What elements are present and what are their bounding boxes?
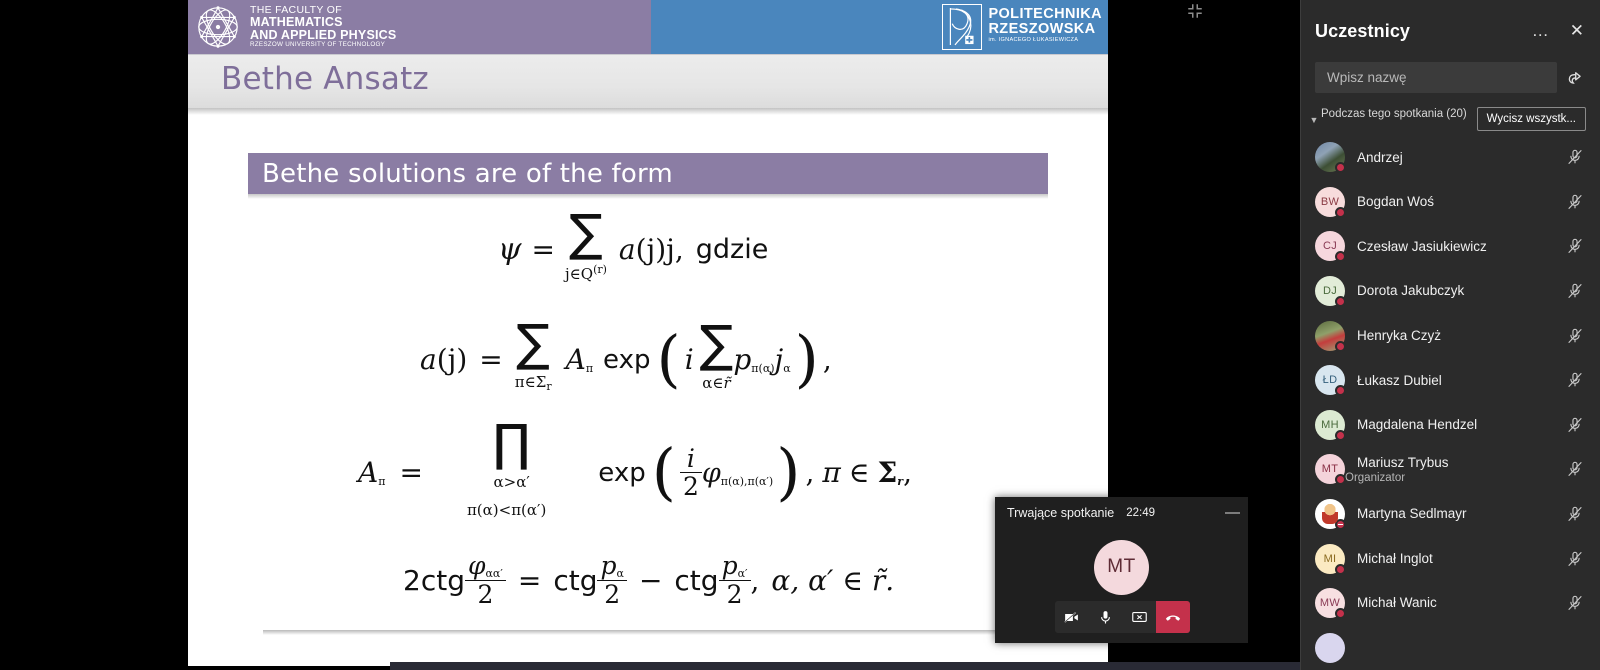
app-root: THE FACULTY OF MATHEMATICS AND APPLIED P…: [0, 0, 1600, 670]
avatar: MW: [1315, 588, 1345, 618]
mic-muted-icon[interactable]: [1566, 594, 1584, 612]
symbol-equals-3: =: [399, 456, 422, 489]
faculty-line-4: RZESZOW UNIVERSITY OF TECHNOLOGY: [250, 42, 396, 48]
paren-open-2: (: [652, 453, 676, 491]
mic-muted-icon[interactable]: [1566, 371, 1584, 389]
coefficient-2ctg: 2ctg: [403, 564, 465, 597]
participants-panel: Uczestnicy … ✕ ▼ Podczas tego spotkania …: [1300, 0, 1600, 670]
symbol-a-2: a: [420, 343, 437, 376]
status-badge: [1335, 430, 1346, 441]
slide-block: Bethe solutions are of the form: [248, 153, 1048, 199]
symbol-phi-2: φ: [468, 551, 486, 580]
symbol-j-1: j: [647, 233, 656, 266]
ctg-word-1: ctg: [421, 564, 465, 597]
paren-close-1: ): [795, 340, 819, 378]
fraction-den-2b: 2: [465, 581, 506, 608]
avatar: MI: [1315, 544, 1345, 574]
avatar: MT: [1315, 454, 1345, 484]
list-item[interactable]: MTMariusz TrybusOrganizator: [1301, 447, 1600, 492]
meeting-controls-bar: [1055, 601, 1190, 633]
app-toolbar-strip[interactable]: [390, 662, 1300, 670]
stop-sharing-button[interactable]: [1123, 601, 1157, 633]
symbol-j-3: j: [448, 343, 457, 376]
university-logo: POLITECHNIKA RZESZOWSKA im. IGNACEGO ŁUK…: [942, 4, 1102, 50]
close-icon[interactable]: ✕: [1570, 21, 1584, 41]
participants-panel-header: Uczestnicy … ✕: [1301, 0, 1600, 62]
participant-name-block: Łukasz Dubiel: [1345, 373, 1442, 389]
sum-glyph-1: ∑: [569, 204, 603, 262]
equation-psi-sum: ψ = ∑ j∈Q(r) a(j)j, gdzie: [498, 216, 768, 283]
comma-4: ,: [751, 564, 760, 597]
participants-section-label: Podczas tego spotkania (20): [1321, 107, 1467, 121]
politechnika-mark-icon: [942, 4, 982, 50]
mute-all-button[interactable]: Wycisz wszystk...: [1477, 107, 1586, 131]
slide-banner: THE FACULTY OF MATHEMATICS AND APPLIED P…: [188, 0, 1108, 54]
participant-name: Bogdan Woś: [1357, 194, 1434, 210]
floating-meeting-window[interactable]: Trwające spotkanie 22:49 — MT: [995, 497, 1248, 643]
participant-name: Dorota Jakubczyk: [1357, 283, 1464, 299]
symbol-minus: −: [639, 564, 662, 597]
university-line-1: POLITECHNIKA: [988, 7, 1102, 22]
symbol-phi-1: φ: [702, 458, 721, 489]
comma-2: ,: [805, 456, 814, 489]
exit-fullscreen-icon[interactable]: [1185, 2, 1205, 20]
symbol-pi-2: π: [822, 456, 840, 489]
word-gdzie: gdzie: [696, 234, 769, 265]
participant-name-block: Bogdan Woś: [1345, 194, 1434, 210]
mic-muted-icon[interactable]: [1566, 148, 1584, 166]
symbol-A-2: A: [358, 456, 378, 489]
participant-name-block: Henryka Czyż: [1345, 328, 1441, 344]
participant-name: Martyna Sedlmayr: [1357, 506, 1467, 522]
product-limit-2: π(α)<π(α′): [467, 501, 546, 519]
participant-name: Henryka Czyż: [1357, 328, 1441, 344]
floating-meeting-timer: 22:49: [1126, 507, 1155, 519]
mic-muted-icon[interactable]: [1566, 237, 1584, 255]
fraction-num-i: i: [680, 446, 702, 474]
fraction-pa-over-2: pα 2: [597, 553, 626, 608]
university-line-2: RZESZOWSKA: [988, 22, 1102, 37]
symbol-psi: ψ: [498, 232, 522, 267]
symbol-p-2: p: [600, 551, 616, 580]
status-badge: [1335, 207, 1346, 218]
more-options-icon[interactable]: …: [1532, 26, 1550, 36]
comma-3: ,: [903, 456, 912, 489]
phase-term: φπ(α),π(α′): [702, 456, 773, 489]
a-of-j-term: a(j)j,: [619, 233, 684, 266]
faculty-line-2: MATHEMATICS: [250, 16, 396, 29]
mic-muted-icon[interactable]: [1566, 327, 1584, 345]
status-badge: [1335, 608, 1346, 619]
avatar: DJ: [1315, 276, 1345, 306]
university-line-3: im. IGNACEGO ŁUKASIEWICZA: [988, 38, 1102, 44]
participant-name-block: Michał Inglot: [1345, 551, 1433, 567]
ctg-word-3: ctg: [674, 564, 718, 597]
sum-limit-3-r: r̃: [724, 374, 731, 392]
equation-ctg-relation: 2ctg φαα′ 2 = ctg pα 2 − ctg: [403, 553, 894, 608]
avatar: BW: [1315, 187, 1345, 217]
fraction-den-2d: 2: [719, 581, 751, 608]
list-item[interactable]: MIMichał Inglot: [1301, 536, 1600, 581]
banner-right: POLITECHNIKA RZESZOWSKA im. IGNACEGO ŁUK…: [651, 0, 1108, 54]
chevron-down-icon[interactable]: ▼: [1307, 107, 1321, 125]
mic-muted-icon[interactable]: [1566, 193, 1584, 211]
camera-off-button[interactable]: [1055, 601, 1089, 633]
avatar: [1315, 321, 1345, 351]
avatar: MT: [1094, 540, 1149, 595]
participant-name: Magdalena Hendzel: [1357, 417, 1477, 433]
faculty-wordmark: THE FACULTY OF MATHEMATICS AND APPLIED P…: [250, 5, 396, 49]
frame-title-shadow: [188, 108, 1108, 115]
politechnika-glyph-icon: [943, 5, 980, 48]
symbol-equals-4: =: [518, 564, 541, 597]
search-input[interactable]: [1315, 62, 1557, 93]
mic-muted-icon[interactable]: [1566, 282, 1584, 300]
sum-glyph-2: ∑: [516, 314, 550, 372]
participant-name: Andrzej: [1357, 150, 1403, 166]
fraction-pap-over-2: pα′ 2: [719, 553, 751, 608]
mic-muted-icon[interactable]: [1566, 550, 1584, 568]
symbol-p-3: p: [722, 551, 738, 580]
participant-role: Organizator: [1345, 472, 1449, 484]
list-item[interactable]: Andrzej: [1301, 135, 1600, 180]
symbol-pi-sub-2: π: [378, 475, 385, 488]
list-item[interactable]: BWBogdan Woś: [1301, 180, 1600, 225]
sum-limit-3-text: α∈: [702, 374, 723, 392]
participants-list[interactable]: AndrzejBWBogdan WośCJCzesław Jasiukiewic…: [1301, 135, 1600, 670]
avatar: MH: [1315, 410, 1345, 440]
microphone-icon: [1097, 609, 1114, 626]
sum-limit-2-text: π∈Σ: [515, 373, 547, 391]
slide-frame-title: Bethe Ansatz: [221, 61, 429, 97]
share-stop-icon: [1131, 609, 1148, 626]
faculty-atom-logo-icon: [194, 3, 242, 51]
fraction-num-pa: pα: [597, 553, 626, 581]
faculty-line-3: AND APPLIED PHYSICS: [250, 29, 396, 42]
avatar: [1315, 499, 1345, 529]
participant-name-block: Magdalena Hendzel: [1345, 417, 1477, 433]
symbol-p-sub-2: α: [617, 567, 624, 580]
list-item[interactable]: MWMichał Wanic: [1301, 581, 1600, 626]
mic-muted-icon[interactable]: [1566, 460, 1584, 478]
participant-name-block: Martyna Sedlmayr: [1345, 506, 1467, 522]
mic-muted-icon[interactable]: [1566, 416, 1584, 434]
camera-off-icon: [1063, 609, 1080, 626]
symbol-a-1: a: [619, 233, 636, 266]
status-badge: [1335, 341, 1346, 352]
participant-name-block: Andrzej: [1345, 150, 1403, 166]
sum-limit-1-sup: (r): [593, 263, 607, 276]
floating-meeting-body: MT: [995, 529, 1248, 605]
participant-name: Michał Wanic: [1357, 595, 1437, 611]
symbol-A-1: A: [566, 343, 586, 376]
sum-limit-2-sub: r: [546, 380, 551, 393]
paren-close-2: ): [776, 453, 800, 491]
symbol-p-sub-3: α′: [738, 567, 748, 580]
avatar: ŁD: [1315, 365, 1345, 395]
slide-bottom-rule: [263, 630, 1053, 635]
symbol-Sigma-r: Σr: [877, 456, 903, 489]
status-badge: [1335, 519, 1346, 530]
amplitude-A-pi: Aπ: [566, 343, 593, 376]
symbol-phi-sub-2: αα′: [486, 567, 503, 580]
symbol-in-1: ∈: [849, 456, 870, 489]
comma-1: ,: [823, 343, 832, 376]
fraction-den-2c: 2: [597, 581, 626, 608]
hang-up-button[interactable]: [1156, 601, 1190, 633]
participant-name-block: Mariusz TrybusOrganizator: [1345, 455, 1449, 484]
alpha-membership: α, α′ ∈ r̃.: [771, 564, 894, 597]
fraction-num-phi: φαα′: [465, 553, 506, 581]
symbol-j-sub-1: α: [783, 362, 790, 375]
momentum-term-1: pπ(α)jα: [733, 343, 790, 376]
status-badge: [1335, 564, 1346, 575]
sum-operator-3: ∑ α∈r̃: [700, 327, 734, 392]
participant-name: Łukasz Dubiel: [1357, 373, 1442, 389]
list-item[interactable]: ŁDŁukasz Dubiel: [1301, 358, 1600, 403]
avatar: CJ: [1315, 231, 1345, 261]
status-badge: [1335, 474, 1346, 485]
page-title: Uczestnicy: [1315, 21, 1410, 42]
list-item[interactable]: [1301, 626, 1600, 670]
sum-limit-3: α∈r̃: [700, 374, 734, 392]
sum-glyph-3: ∑: [700, 315, 734, 373]
mic-muted-icon[interactable]: [1566, 505, 1584, 523]
exp-word-1: exp: [603, 345, 650, 375]
block-title: Bethe solutions are of the form: [248, 153, 1048, 194]
microphone-button[interactable]: [1089, 601, 1123, 633]
status-badge: [1335, 162, 1346, 173]
fraction-num-pap: pα′: [719, 553, 751, 581]
equation-a-of-j: a(j) = ∑ π∈Σr Aπ exp ( i: [420, 326, 832, 393]
sum-limit-2: π∈Σr: [515, 373, 552, 393]
symbol-equals-2: =: [479, 343, 502, 376]
floating-meeting-header[interactable]: Trwające spotkanie 22:49 —: [995, 497, 1248, 529]
list-item[interactable]: CJCzesław Jasiukiewicz: [1301, 224, 1600, 269]
avatar: [1315, 633, 1345, 663]
participant-name-block: Dorota Jakubczyk: [1345, 283, 1464, 299]
sum-limit-1: j∈Q(r): [565, 263, 607, 283]
fraction-i-over-2: i 2: [680, 446, 702, 500]
fraction-den-2: 2: [680, 473, 702, 500]
ctg-word-2: ctg: [553, 564, 597, 597]
symbol-p-sub-1: π(α): [751, 362, 774, 375]
slide-equations: ψ = ∑ j∈Q(r) a(j)j, gdzie: [248, 198, 1048, 628]
symbol-equals-1: =: [532, 233, 555, 266]
participant-name: Mariusz Trybus: [1357, 455, 1449, 471]
hang-up-icon: [1164, 608, 1182, 626]
symbol-pi-sub-1: π: [586, 362, 593, 375]
participants-section-row: ▼ Podczas tego spotkania (20) Wycisz wsz…: [1301, 93, 1600, 133]
symbol-i-1: i: [685, 343, 694, 376]
slide-frame-title-bar: Bethe Ansatz: [188, 54, 1108, 108]
floating-meeting-title: Trwające spotkanie: [1007, 506, 1114, 520]
banner-left: THE FACULTY OF MATHEMATICS AND APPLIED P…: [188, 0, 651, 54]
symbol-j-4: j: [775, 343, 784, 376]
sum-limit-1-text: j∈Q: [565, 265, 593, 283]
list-item[interactable]: Henryka Czyż: [1301, 313, 1600, 358]
university-wordmark: POLITECHNIKA RZESZOWSKA im. IGNACEGO ŁUK…: [988, 4, 1102, 44]
paren-open-1: (: [656, 340, 680, 378]
participant-name-block: Michał Wanic: [1345, 595, 1437, 611]
sum-operator-1: ∑ j∈Q(r): [565, 216, 607, 283]
symbol-Sigma-glyph: Σ: [877, 456, 897, 489]
list-item[interactable]: DJDorota Jakubczyk: [1301, 269, 1600, 314]
participant-name-block: Czesław Jasiukiewicz: [1345, 239, 1487, 255]
symbol-p-1: p: [733, 343, 751, 376]
product-operator: ∏ α>α′ π(α)<π(α′): [477, 426, 546, 519]
list-item[interactable]: MHMagdalena Hendzel: [1301, 403, 1600, 448]
status-badge: [1335, 251, 1346, 262]
symbol-j-2: j: [666, 233, 675, 266]
participant-name: Czesław Jasiukiewicz: [1357, 239, 1487, 255]
avatar: [1315, 142, 1345, 172]
participant-name: Michał Inglot: [1357, 551, 1433, 567]
fraction-phi-over-2: φαα′ 2: [465, 553, 506, 608]
status-badge: [1335, 385, 1346, 396]
list-item[interactable]: Martyna Sedlmayr: [1301, 492, 1600, 537]
minimize-button[interactable]: —: [1225, 509, 1240, 517]
symbol-phi-sub-1: π(α),π(α′): [721, 475, 773, 488]
prod-glyph: ∏: [493, 414, 531, 472]
exp-word-2: exp: [598, 458, 645, 488]
participants-search-row: [1301, 62, 1600, 93]
share-invite-icon[interactable]: [1567, 68, 1586, 87]
status-badge: [1335, 296, 1346, 307]
product-limit-1: α>α′: [477, 473, 546, 491]
sum-operator-2: ∑ π∈Σr: [515, 326, 552, 393]
equation-a-pi: Aπ = ∏ α>α′ π(α)<π(α′) exp ( i 2: [358, 426, 912, 519]
presentation-slide: THE FACULTY OF MATHEMATICS AND APPLIED P…: [188, 0, 1108, 666]
